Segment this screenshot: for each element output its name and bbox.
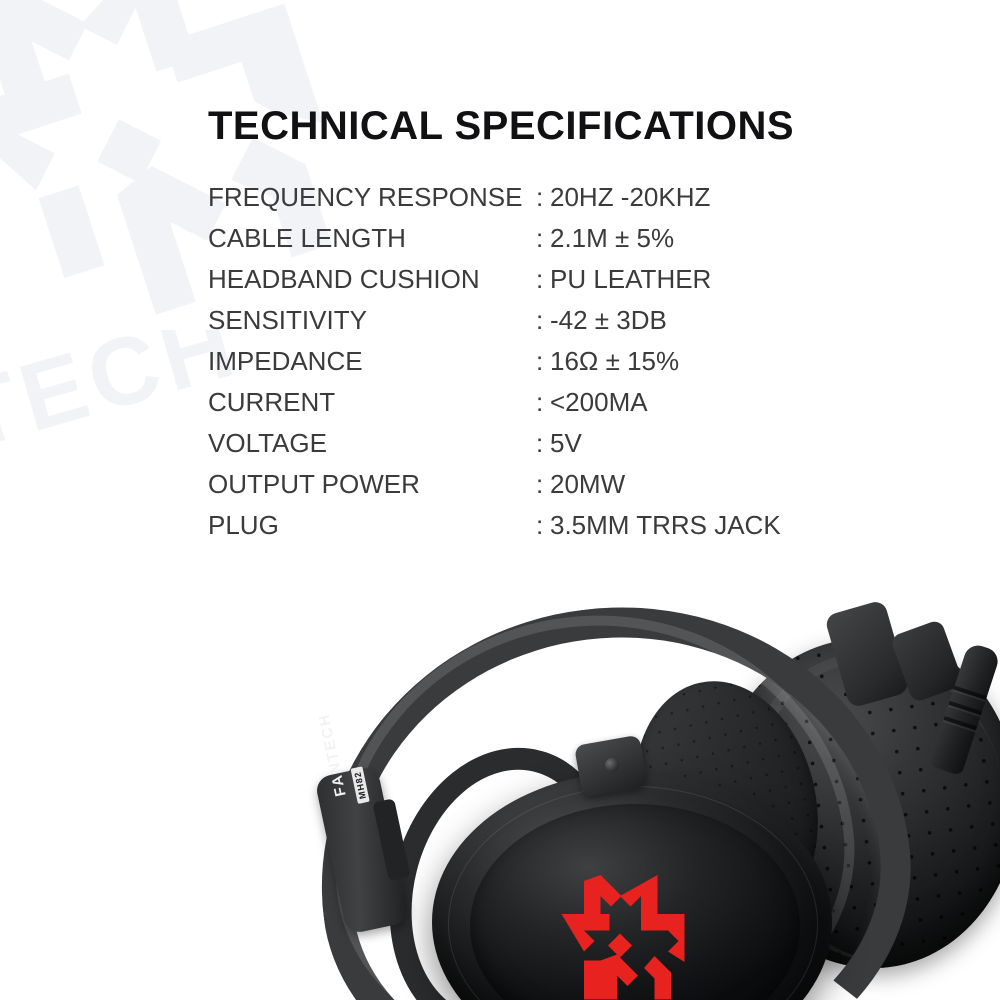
spec-label: FREQUENCY RESPONSE [208,182,536,213]
spec-label: CURRENT [208,387,536,418]
spec-row: IMPEDANCE : 16Ω ± 15% [208,346,828,387]
spec-separator: : [536,305,550,336]
spec-list: FREQUENCY RESPONSE : 20HZ -20KHZ CABLE L… [208,182,828,551]
spec-value: 20HZ -20KHZ [550,182,828,213]
spec-value: PU LEATHER [550,264,828,295]
spec-separator: : [536,346,550,377]
spec-label: CABLE LENGTH [208,223,536,254]
product-image: FANTECH MH82 [0,560,1000,1000]
spec-separator: : [536,510,550,541]
brand-name-text: FANTECH [308,677,350,798]
spec-row: FREQUENCY RESPONSE : 20HZ -20KHZ [208,182,828,223]
page-title: TECHNICAL SPECIFICATIONS [208,104,794,149]
spec-label: SENSITIVITY [208,305,536,336]
spec-label: PLUG [208,510,536,541]
spec-separator: : [536,469,550,500]
spec-value: 20MW [550,469,828,500]
spec-row: CURRENT : <200MA [208,387,828,428]
spec-separator: : [536,428,550,459]
spec-separator: : [536,223,550,254]
spec-row: PLUG : 3.5MM TRRS JACK [208,510,828,551]
spec-row: OUTPUT POWER : 20MW [208,469,828,510]
spec-separator: : [536,387,550,418]
spec-label: HEADBAND CUSHION [208,264,536,295]
spec-value: 16Ω ± 15% [550,346,828,377]
spec-separator: : [536,182,550,213]
spec-row: HEADBAND CUSHION : PU LEATHER [208,264,828,305]
spec-value: 2.1M ± 5% [550,223,828,254]
spec-label: IMPEDANCE [208,346,536,377]
spec-row: VOLTAGE : 5V [208,428,828,469]
product-spec-page: TECH TECHNICAL SPECIFICATIONS FREQUENCY … [0,0,1000,1000]
spec-value: 3.5MM TRRS JACK [550,510,828,541]
spec-value: -42 ± 3DB [550,305,828,336]
spec-label: OUTPUT POWER [208,469,536,500]
spec-value: <200MA [550,387,828,418]
spec-value: 5V [550,428,828,459]
spec-label: VOLTAGE [208,428,536,459]
spec-row: CABLE LENGTH : 2.1M ± 5% [208,223,828,264]
fantech-chevron-logo-icon [545,860,695,1000]
spec-row: SENSITIVITY : -42 ± 3DB [208,305,828,346]
spec-separator: : [536,264,550,295]
